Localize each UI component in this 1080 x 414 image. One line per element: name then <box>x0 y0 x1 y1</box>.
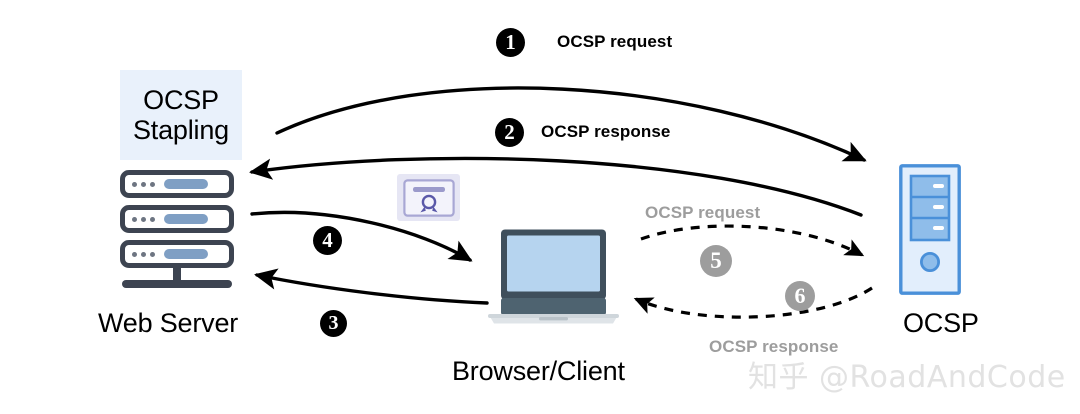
server-rack-base <box>122 280 232 288</box>
server-rack-accent-bar <box>164 214 208 224</box>
server-rack-indicator-dots <box>132 217 155 222</box>
diagram-canvas: OCSP Stapling Web Server <box>0 0 1080 414</box>
watermark: 知乎 @RoadAndCode <box>748 352 1066 396</box>
server-rack-accent-bar <box>164 179 208 189</box>
step-marker-2: 2 <box>495 118 524 147</box>
flow-label-ocsp-request-stapled: OCSP request <box>557 32 672 52</box>
flow-label-ocsp-response-stapled: OCSP response <box>541 122 670 142</box>
flow-label-ocsp-request-direct: OCSP request <box>645 203 760 223</box>
step-marker-4: 4 <box>313 226 342 255</box>
browser-client-caption: Browser/Client <box>452 356 625 387</box>
server-rack-unit <box>120 205 234 233</box>
server-tower-icon <box>899 164 961 295</box>
ocsp-stapling-badge-line-2: Stapling <box>133 115 229 145</box>
certificate-icon <box>397 174 460 221</box>
web-server-caption: Web Server <box>98 308 238 339</box>
flow-arrow-3 <box>257 275 487 303</box>
server-rack-unit <box>120 170 234 198</box>
server-rack-indicator-dots <box>132 182 155 187</box>
flow-arrow-6 <box>636 288 872 317</box>
server-rack-accent-bar <box>164 249 208 259</box>
step-marker-5: 5 <box>700 245 732 277</box>
server-rack-icon <box>116 170 242 290</box>
flow-arrow-2 <box>252 158 861 215</box>
laptop-icon <box>487 228 620 326</box>
ocsp-stapling-badge: OCSP Stapling <box>120 70 242 160</box>
ocsp-server-caption: OCSP <box>903 308 979 339</box>
flow-arrow-5 <box>641 226 862 255</box>
server-rack-indicator-dots <box>132 252 155 257</box>
step-marker-3: 3 <box>320 310 347 337</box>
server-rack-unit <box>120 240 234 268</box>
step-marker-1: 1 <box>496 28 525 57</box>
ocsp-stapling-badge-line-1: OCSP <box>143 85 219 115</box>
step-marker-6: 6 <box>785 281 815 311</box>
